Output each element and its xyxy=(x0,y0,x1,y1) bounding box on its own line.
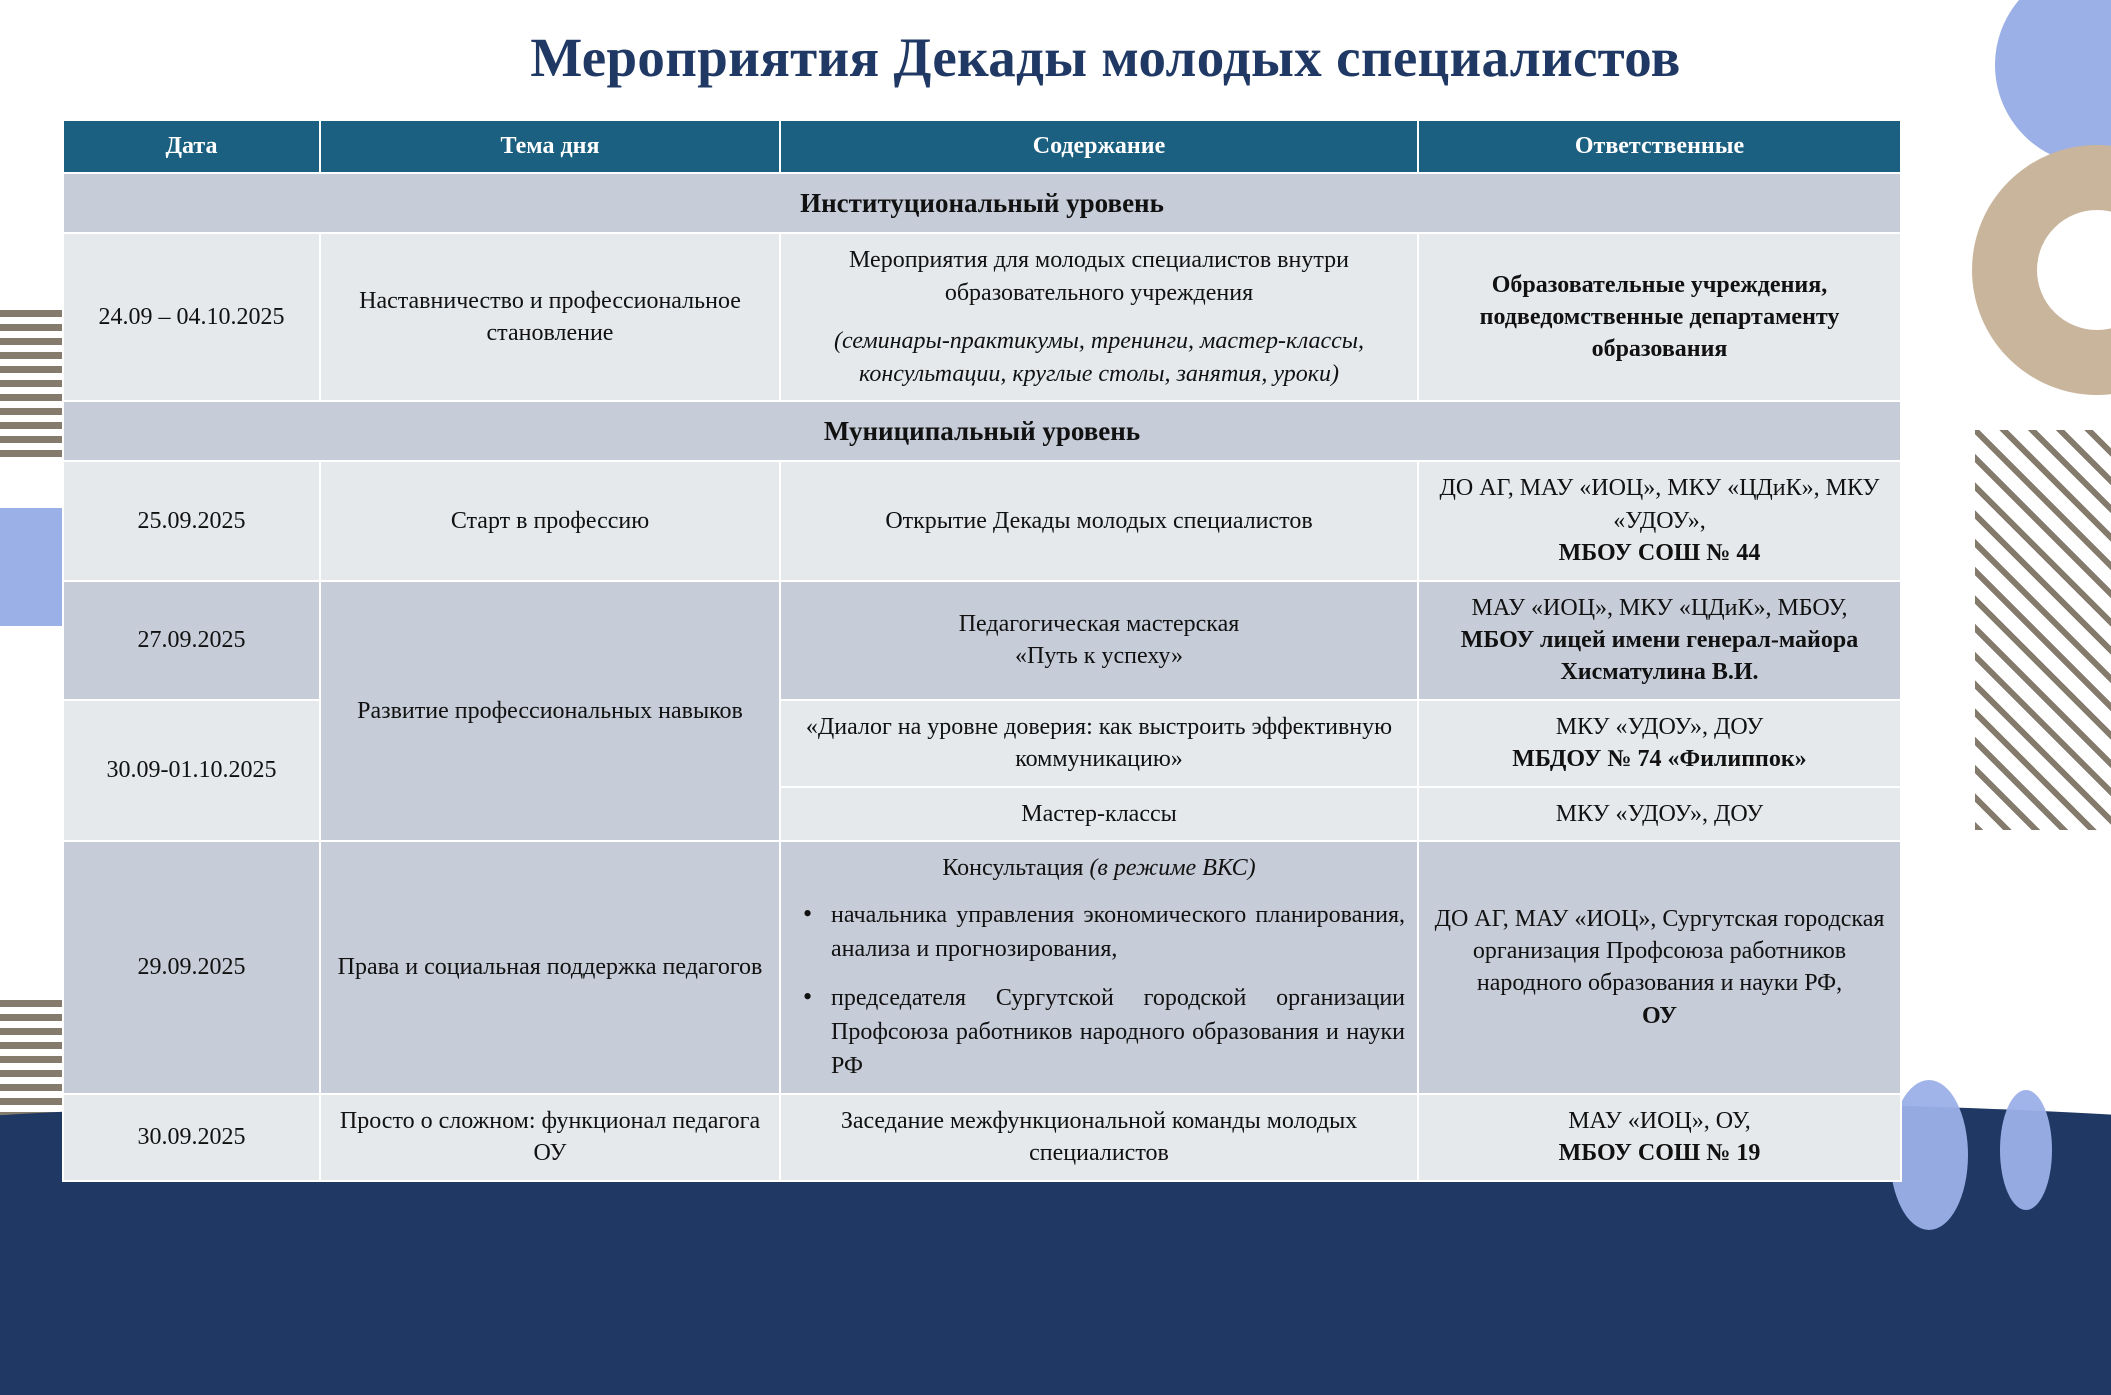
bottom-ellipse-small-decoration xyxy=(2000,1090,2052,1210)
consultation-label: Консультация xyxy=(942,855,1089,881)
column-header-content: Содержание xyxy=(780,120,1418,173)
cell-responsible: ДО АГ, МАУ «ИОЦ», Сургутская городская о… xyxy=(1418,841,1901,1094)
consultation-bullet-list: начальника управления экономического пла… xyxy=(793,898,1405,1082)
cell-responsible: МАУ «ИОЦ», МКУ «ЦДиК», МБОУ, МБОУ лицей … xyxy=(1418,581,1901,700)
cell-content: Открытие Декады молодых специалистов xyxy=(780,461,1418,580)
cell-date: 27.09.2025 xyxy=(63,581,320,700)
cell-content: Заседание межфункциональной команды моло… xyxy=(780,1094,1418,1181)
section-band-institutional: Институциональный уровень xyxy=(63,173,1901,233)
tan-donut-hole xyxy=(2037,210,2111,330)
responsible-bold-text: МБДОУ № 74 «Филиппок» xyxy=(1512,746,1806,772)
cell-date: 24.09 – 04.10.2025 xyxy=(63,233,320,401)
cell-date: 29.09.2025 xyxy=(63,841,320,1094)
content-line-secondary: «Путь к успеху» xyxy=(793,640,1405,672)
responsible-normal-text: ДО АГ, МАУ «ИОЦ», МКУ «ЦДиК», МКУ «УДОУ»… xyxy=(1431,472,1888,537)
cell-responsible: Образовательные учреждения, подведомстве… xyxy=(1418,233,1901,401)
left-stripes-bottom-decoration xyxy=(0,1000,66,1130)
column-header-date: Дата xyxy=(63,120,320,173)
section-band-label: Муниципальный уровень xyxy=(63,401,1901,461)
left-stripes-top-decoration xyxy=(0,310,66,460)
page-title: Мероприятия Декады молодых специалистов xyxy=(0,26,2111,89)
cell-responsible: ДО АГ, МАУ «ИОЦ», МКУ «ЦДиК», МКУ «УДОУ»… xyxy=(1418,461,1901,580)
list-item: председателя Сургутской городской органи… xyxy=(793,981,1405,1083)
cell-theme: Старт в профессию xyxy=(320,461,780,580)
table-row: 29.09.2025 Права и социальная поддержка … xyxy=(63,841,1901,1094)
table-row: 27.09.2025 Развитие профессиональных нав… xyxy=(63,581,1901,700)
responsible-normal-text: МАУ «ИОЦ», ОУ, xyxy=(1431,1105,1888,1137)
column-header-theme: Тема дня xyxy=(320,120,780,173)
content-consultation-heading: Консультация (в режиме ВКС) xyxy=(793,852,1405,884)
cell-theme: Наставничество и профессиональное станов… xyxy=(320,233,780,401)
section-band-municipal: Муниципальный уровень xyxy=(63,401,1901,461)
list-item: начальника управления экономического пла… xyxy=(793,898,1405,966)
cell-content: «Диалог на уровне доверия: как выстроить… xyxy=(780,700,1418,787)
responsible-bold-text: МБОУ СОШ № 19 xyxy=(1559,1140,1761,1166)
section-band-label: Институциональный уровень xyxy=(63,173,1901,233)
responsible-normal-text: ДО АГ, МАУ «ИОЦ», Сургутская городская о… xyxy=(1431,903,1888,1000)
cell-responsible: МКУ «УДОУ», ДОУ МБДОУ № 74 «Филиппок» xyxy=(1418,700,1901,787)
cell-responsible: МАУ «ИОЦ», ОУ, МБОУ СОШ № 19 xyxy=(1418,1094,1901,1181)
responsible-bold-text: МБОУ СОШ № 44 xyxy=(1559,540,1761,566)
cell-theme: Развитие профессиональных навыков xyxy=(320,581,780,841)
cell-theme: Права и социальная поддержка педагогов xyxy=(320,841,780,1094)
content-line-primary: Педагогическая мастерская xyxy=(793,608,1405,640)
responsible-normal-text: МАУ «ИОЦ», МКУ «ЦДиК», МБОУ, xyxy=(1431,592,1888,624)
responsible-bold-text: МБОУ лицей имени генерал-майора Хисматул… xyxy=(1461,627,1858,685)
table-row: 25.09.2025 Старт в профессию Открытие Де… xyxy=(63,461,1901,580)
table-row: 24.09 – 04.10.2025 Наставничество и проф… xyxy=(63,233,1901,401)
left-blue-square-decoration xyxy=(0,508,66,626)
cell-responsible: МКУ «УДОУ», ДОУ xyxy=(1418,787,1901,841)
cell-date: 25.09.2025 xyxy=(63,461,320,580)
table-header-row: Дата Тема дня Содержание Ответственные xyxy=(63,120,1901,173)
cell-content: Педагогическая мастерская «Путь к успеху… xyxy=(780,581,1418,700)
content-line-primary: Мероприятия для молодых специалистов вну… xyxy=(793,244,1405,309)
cell-date: 30.09.2025 xyxy=(63,1094,320,1181)
schedule-table: Дата Тема дня Содержание Ответственные И… xyxy=(62,119,1902,1182)
table-row: 30.09.2025 Просто о сложном: функционал … xyxy=(63,1094,1901,1181)
cell-content: Мастер-классы xyxy=(780,787,1418,841)
cell-date: 30.09-01.10.2025 xyxy=(63,700,320,841)
right-diagonal-hatch-decoration xyxy=(1975,430,2111,830)
cell-content: Консультация (в режиме ВКС) начальника у… xyxy=(780,841,1418,1094)
responsible-bold-text: Образовательные учреждения, подведомстве… xyxy=(1480,272,1840,363)
content-line-italic: (семинары-практикумы, тренинги, мастер-к… xyxy=(793,325,1405,390)
tan-donut-decoration xyxy=(1972,145,2111,395)
cell-content: Мероприятия для молодых специалистов вну… xyxy=(780,233,1418,401)
consultation-mode: (в режиме ВКС) xyxy=(1089,855,1255,881)
cell-theme: Просто о сложном: функционал педагога ОУ xyxy=(320,1094,780,1181)
column-header-responsible: Ответственные xyxy=(1418,120,1901,173)
responsible-normal-text: МКУ «УДОУ», ДОУ xyxy=(1431,711,1888,743)
responsible-bold-text: ОУ xyxy=(1642,1003,1677,1029)
schedule-table-container: Дата Тема дня Содержание Ответственные И… xyxy=(62,119,1900,1182)
